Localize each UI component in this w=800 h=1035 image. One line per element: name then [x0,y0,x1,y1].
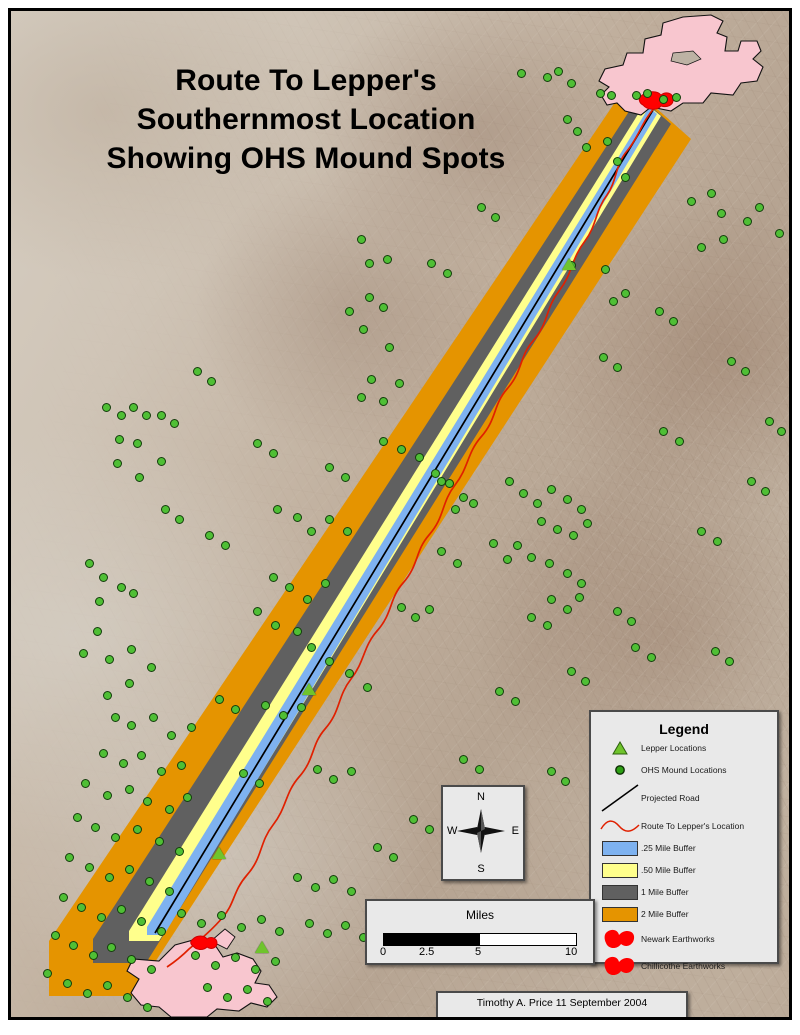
credit-text: Timothy A. Price 11 September 2004 [438,993,686,1013]
legend-item-chillicothe-earthworks: Chillicothe Earthworks [591,952,777,979]
triangle-green-icon [599,741,641,755]
blob-red-icon [599,954,641,978]
swatch-blue-icon [599,841,641,856]
title-line-1: Route To Lepper's [71,61,541,100]
legend-label: Newark Earthworks [641,934,715,944]
map-page: Route To Lepper's Southernmost Location … [0,0,800,1035]
swatch-gray-icon [599,885,641,900]
lepper-location-marker[interactable] [302,683,316,695]
scale-bar-panel: Miles 0 2.5 5 10 [365,899,595,965]
compass-south-label: S [443,863,519,875]
swatch-yellow-icon [599,863,641,878]
title-line-2: Southernmost Location [71,100,541,139]
legend-label: 1 Mile Buffer [641,887,689,897]
legend-item-2-mile-buffer: 2 Mile Buffer [591,903,777,925]
lepper-location-marker[interactable] [562,258,576,270]
legend-item-050-mile-buffer: .50 Mile Buffer [591,859,777,881]
legend-panel: Legend Lepper Locations OHS Mound Locati… [589,710,779,964]
legend-label: Projected Road [641,793,700,803]
compass-north-label: N [443,791,519,803]
compass-west-label: W [447,825,457,837]
legend-label: Route To Lepper's Location [641,821,744,831]
line-black-icon [599,783,641,813]
dot-green-icon [599,764,641,776]
legend-label: .50 Mile Buffer [641,865,696,875]
north-arrow-panel: N S W E [441,785,525,881]
legend-item-025-mile-buffer: .25 Mile Buffer [591,837,777,859]
legend-label: 2 Mile Buffer [641,909,689,919]
legend-label: Lepper Locations [641,743,706,753]
scale-bar-fill [384,934,480,945]
legend-item-lepper-locations: Lepper Locations [591,737,777,759]
legend-label: .25 Mile Buffer [641,843,696,853]
compass-east-label: E [512,825,519,837]
scale-tick-2p5: 2.5 [419,946,434,958]
lepper-location-marker[interactable] [212,847,226,859]
legend-item-ohs-mound-locations: OHS Mound Locations [591,759,777,781]
swatch-orange-icon [599,907,641,922]
scale-tick-0: 0 [380,946,386,958]
map-frame: Route To Lepper's Southernmost Location … [8,8,792,1020]
page-title: Route To Lepper's Southernmost Location … [71,61,541,178]
scale-tick-10: 10 [565,946,577,958]
scale-units-label: Miles [367,908,593,922]
legend-label: OHS Mound Locations [641,765,727,775]
scale-tick-5: 5 [475,946,481,958]
legend-item-newark-earthworks: Newark Earthworks [591,925,777,952]
lepper-location-marker[interactable] [255,941,269,953]
map-canvas[interactable]: Route To Lepper's Southernmost Location … [11,11,789,1017]
legend-item-route-to-leppers: Route To Lepper's Location [591,815,777,837]
legend-item-projected-road: Projected Road [591,781,777,815]
legend-item-1-mile-buffer: 1 Mile Buffer [591,881,777,903]
scale-bar-graphic [383,933,577,946]
legend-label: Chillicothe Earthworks [641,961,725,971]
credit-panel: Timothy A. Price 11 September 2004 [436,991,688,1017]
blob-red-icon [599,927,641,951]
wavy-line-red-icon [599,818,641,834]
legend-title: Legend [591,721,777,737]
title-line-3: Showing OHS Mound Spots [71,139,541,178]
